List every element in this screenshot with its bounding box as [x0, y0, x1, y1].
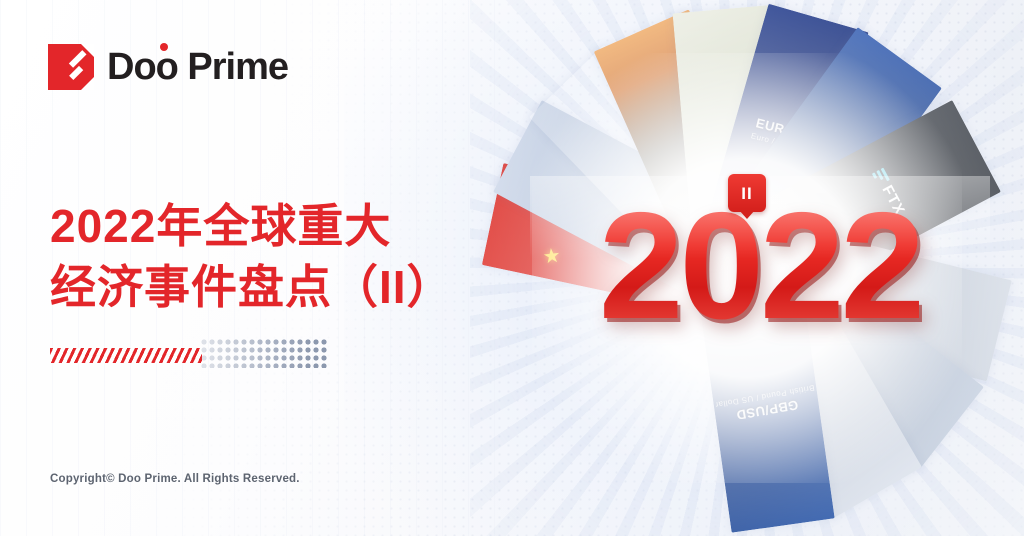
page-title: 2022年全球重大 经济事件盘点（II） [50, 196, 510, 317]
brand-logo[interactable]: Doo Prime [48, 44, 288, 90]
doo-prime-promo-banner: EUR/USDEuro / US DollarFTXGBP/USDBritish… [0, 0, 1024, 536]
part-two-badge: II [728, 174, 766, 212]
doo-prime-logo-mark [48, 44, 94, 90]
brand-wordmark: Doo Prime [107, 46, 288, 89]
headline-line-1: 2022年全球重大 [50, 200, 391, 252]
divider-red-stripes [50, 348, 202, 363]
decorative-divider [50, 344, 320, 366]
part-two-badge-label: II [741, 185, 752, 202]
logo-mark-notch-bottom [81, 77, 94, 90]
headline-line-2: 经济事件盘点（II） [50, 257, 510, 318]
divider-halftone-dots [200, 338, 328, 368]
copyright-text: Copyright© Doo Prime. All Rights Reserve… [50, 473, 300, 485]
logo-mark-slash-upper [69, 50, 86, 67]
logo-i-dot [160, 43, 168, 51]
